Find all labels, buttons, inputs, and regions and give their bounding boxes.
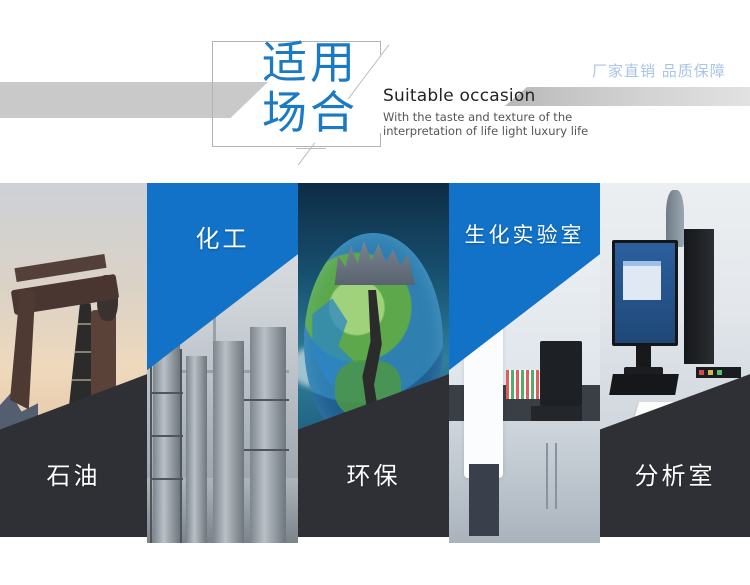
header-section: 适用 场合 Suitable occasion With the taste a…: [0, 0, 750, 180]
page-subtitle-line2: interpretation of life light luxury life: [383, 124, 588, 138]
page-subtitle-line1: With the taste and texture of the: [383, 110, 588, 124]
scenario-panel-oil[interactable]: 石油: [0, 183, 147, 537]
scenario-panel-environment[interactable]: 环保: [298, 183, 449, 537]
scenario-panel-strip: 石油 化工: [0, 183, 750, 543]
page-title-cn-line2: 场合: [262, 88, 392, 138]
header-slogan: 厂家直销 品质保障: [592, 60, 726, 81]
page-title-en: Suitable occasion: [383, 86, 535, 106]
underline-accent-icon: [296, 148, 326, 149]
scenario-panel-chemical[interactable]: 化工: [147, 183, 298, 543]
suitable-occasion-banner: 适用 场合 Suitable occasion With the taste a…: [0, 0, 750, 585]
page-title-cn-line1: 适用: [262, 36, 358, 89]
header-band-right: [505, 87, 750, 106]
scenario-panel-label: 石油: [0, 456, 147, 491]
scenario-panel-label: 环保: [298, 456, 449, 491]
scenario-panel-analysis-room[interactable]: 分析室: [600, 183, 750, 537]
page-subtitle: With the taste and texture of the interp…: [383, 110, 588, 138]
page-title-cn: 适用 场合: [262, 38, 392, 138]
scenario-panel-biolab[interactable]: 生化实验室: [449, 183, 600, 543]
scenario-panel-label: 化工: [147, 219, 298, 254]
scenario-panel-label: 分析室: [600, 456, 750, 491]
scenario-panel-label: 生化实验室: [449, 219, 600, 249]
